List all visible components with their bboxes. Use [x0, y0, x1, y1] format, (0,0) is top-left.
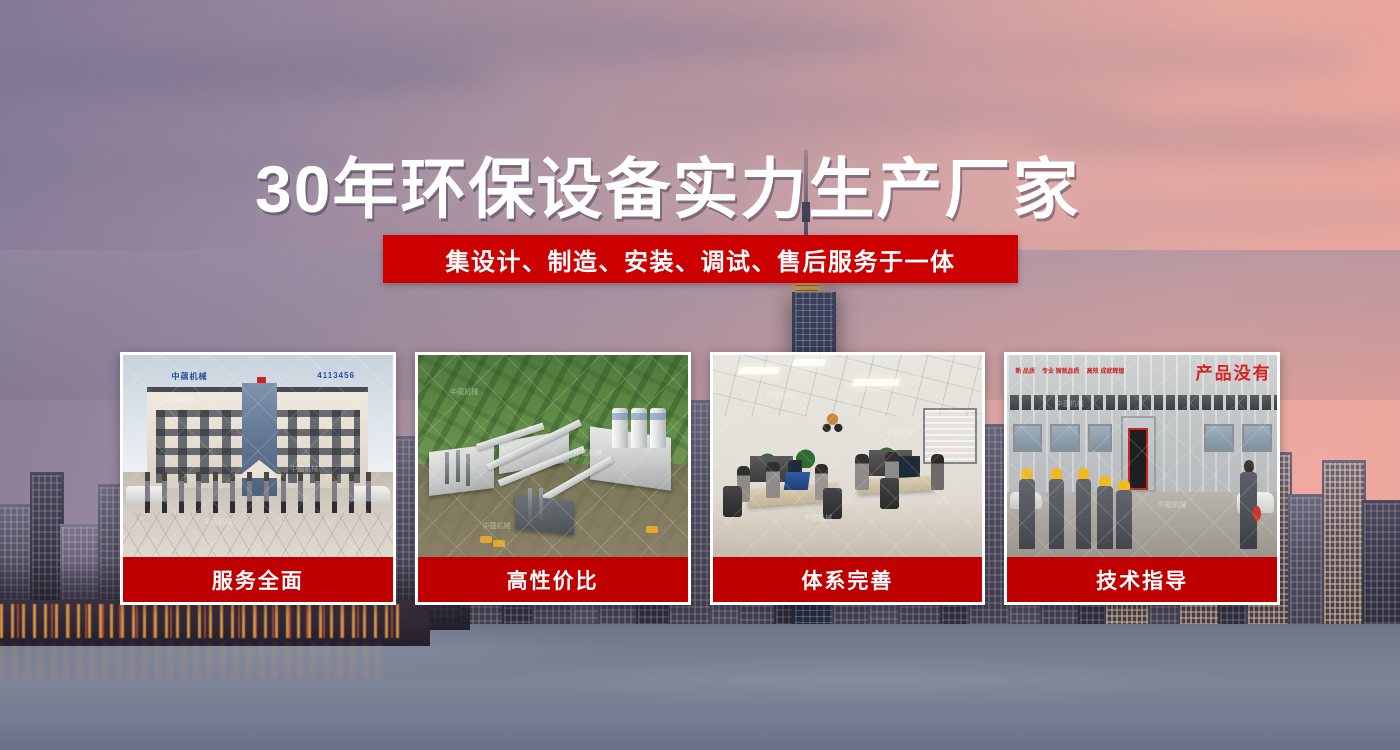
staff-person: [315, 472, 320, 512]
office-floor: [713, 504, 983, 557]
worker-body: [1019, 479, 1034, 549]
cloud-band: [880, 34, 1360, 84]
card-photo-factory-workers: 产品没有 新 品质 专业 铸就品质 高效 成就辉煌: [1007, 355, 1277, 557]
subtitle-banner: 集设计、制造、安装、调试、售后服务于一体: [383, 235, 1018, 283]
worker-body: [1076, 479, 1091, 549]
office-employee: [766, 462, 779, 498]
office-employee: [855, 454, 868, 490]
light-reflections: [0, 644, 390, 678]
plant-shed: [515, 495, 574, 536]
staff-person: [298, 472, 303, 512]
chimney-stack: [456, 450, 460, 482]
cloud-band: [1080, 196, 1400, 230]
staff-person: [349, 472, 354, 512]
company-phone-text: 4113456: [317, 371, 355, 380]
staff-person: [145, 472, 150, 512]
staff-person: [366, 472, 371, 512]
card-photo-office-building: 中蕴机械 4113456: [123, 355, 393, 557]
company-sign-text: 中蕴机械: [172, 371, 208, 382]
safety-helmet-icon: [1051, 468, 1062, 480]
supervisor-head: [1244, 460, 1254, 473]
worker-body: [1097, 486, 1112, 549]
feature-card-row: 中蕴机械 4113456: [120, 352, 1280, 605]
laptop: [784, 472, 811, 490]
ceiling-light: [792, 359, 827, 366]
slogan-text: 专业 铸就品质: [1042, 369, 1080, 377]
office-chair: [823, 488, 842, 518]
staff-person: [281, 472, 286, 512]
excavator: [646, 526, 658, 533]
factory-window: [1242, 424, 1272, 452]
factory-small-slogans: 新 品质 专业 铸就品质 高效 成就辉煌: [1015, 369, 1124, 377]
office-chair: [880, 478, 899, 508]
feature-card[interactable]: 产品没有 新 品质 专业 铸就品质 高效 成就辉煌: [1004, 352, 1280, 605]
worker-with-helmet: [1048, 468, 1066, 549]
worker-body: [1049, 479, 1064, 549]
red-helmet-icon: [1253, 506, 1261, 521]
worker-body: [1116, 490, 1131, 549]
wall-vent-band: [1007, 395, 1277, 409]
ceiling-light: [738, 367, 781, 374]
card-photo-industrial-plant: 中蕴机械 中蕴机械 中蕴机械: [418, 355, 688, 557]
feature-card[interactable]: 中蕴机械 中蕴机械 中蕴机械 体系完善: [710, 352, 986, 605]
staff-person: [162, 472, 167, 512]
subtitle-text: 集设计、制造、安装、调试、售后服务于一体: [446, 242, 956, 277]
staff-person: [332, 472, 337, 512]
safety-helmet-icon: [1021, 468, 1032, 480]
worker-with-helmet: [1096, 476, 1114, 549]
factory-red-slogan: 产品没有: [1196, 359, 1272, 384]
feature-card[interactable]: 中蕴机械 中蕴机械 中蕴机械 高性价比: [415, 352, 691, 605]
skyline-building: [1322, 460, 1366, 650]
cloud-band: [0, 46, 500, 100]
factory-window: [1204, 424, 1234, 452]
card-caption: 体系完善: [713, 557, 983, 602]
cloud-band: [300, 18, 920, 62]
staff-person: [247, 472, 252, 512]
staff-lineup: [145, 472, 372, 512]
storage-silo: [631, 408, 647, 448]
factory-window: [1050, 424, 1080, 452]
supervisor: [1239, 460, 1258, 549]
excavator: [493, 540, 505, 547]
card-caption: 技术指导: [1007, 557, 1277, 602]
feature-card[interactable]: 中蕴机械 4113456: [120, 352, 396, 605]
promotional-banner: 30年环保设备实力生产厂家 集设计、制造、安装、调试、售后服务于一体 中蕴机械 …: [0, 0, 1400, 750]
ceiling-tiles: [713, 355, 983, 416]
staff-person: [230, 472, 235, 512]
office-employee: [931, 454, 944, 490]
card-photo-office-interior: 中蕴机械 中蕴机械 中蕴机械: [713, 355, 983, 557]
wall-decoration: [818, 408, 848, 440]
slogan-text: 新 品质: [1015, 369, 1035, 377]
worker-with-helmet: [1075, 468, 1093, 549]
worker-with-helmet: [1018, 468, 1036, 549]
chimney-stack: [539, 488, 543, 520]
storage-silo: [650, 408, 666, 448]
office-chair: [723, 486, 742, 516]
plant-building: [429, 444, 494, 496]
card-caption: 服务全面: [123, 557, 393, 602]
paving-pattern: [123, 513, 393, 557]
cloud-band: [640, 92, 1140, 130]
chimney-stack: [528, 488, 532, 520]
factory-window: [1088, 424, 1112, 452]
staff-person: [179, 472, 184, 512]
staff-person: [196, 472, 201, 512]
worker-with-helmet: [1115, 480, 1133, 549]
storage-silo: [612, 408, 628, 448]
staff-person: [264, 472, 269, 512]
slogan-text: 高效 成就辉煌: [1087, 369, 1125, 377]
excavator: [480, 536, 492, 543]
staff-person: [213, 472, 218, 512]
safety-helmet-icon: [1078, 468, 1089, 480]
ceiling-light: [851, 379, 900, 386]
national-flag: [257, 377, 266, 383]
card-caption: 高性价比: [418, 557, 688, 602]
chimney-stack: [466, 454, 470, 486]
page-title: 30年环保设备实力生产厂家: [255, 136, 1080, 232]
factory-window: [1013, 424, 1043, 452]
chimney-stack: [445, 452, 449, 484]
riverbank-lights: [0, 604, 400, 638]
